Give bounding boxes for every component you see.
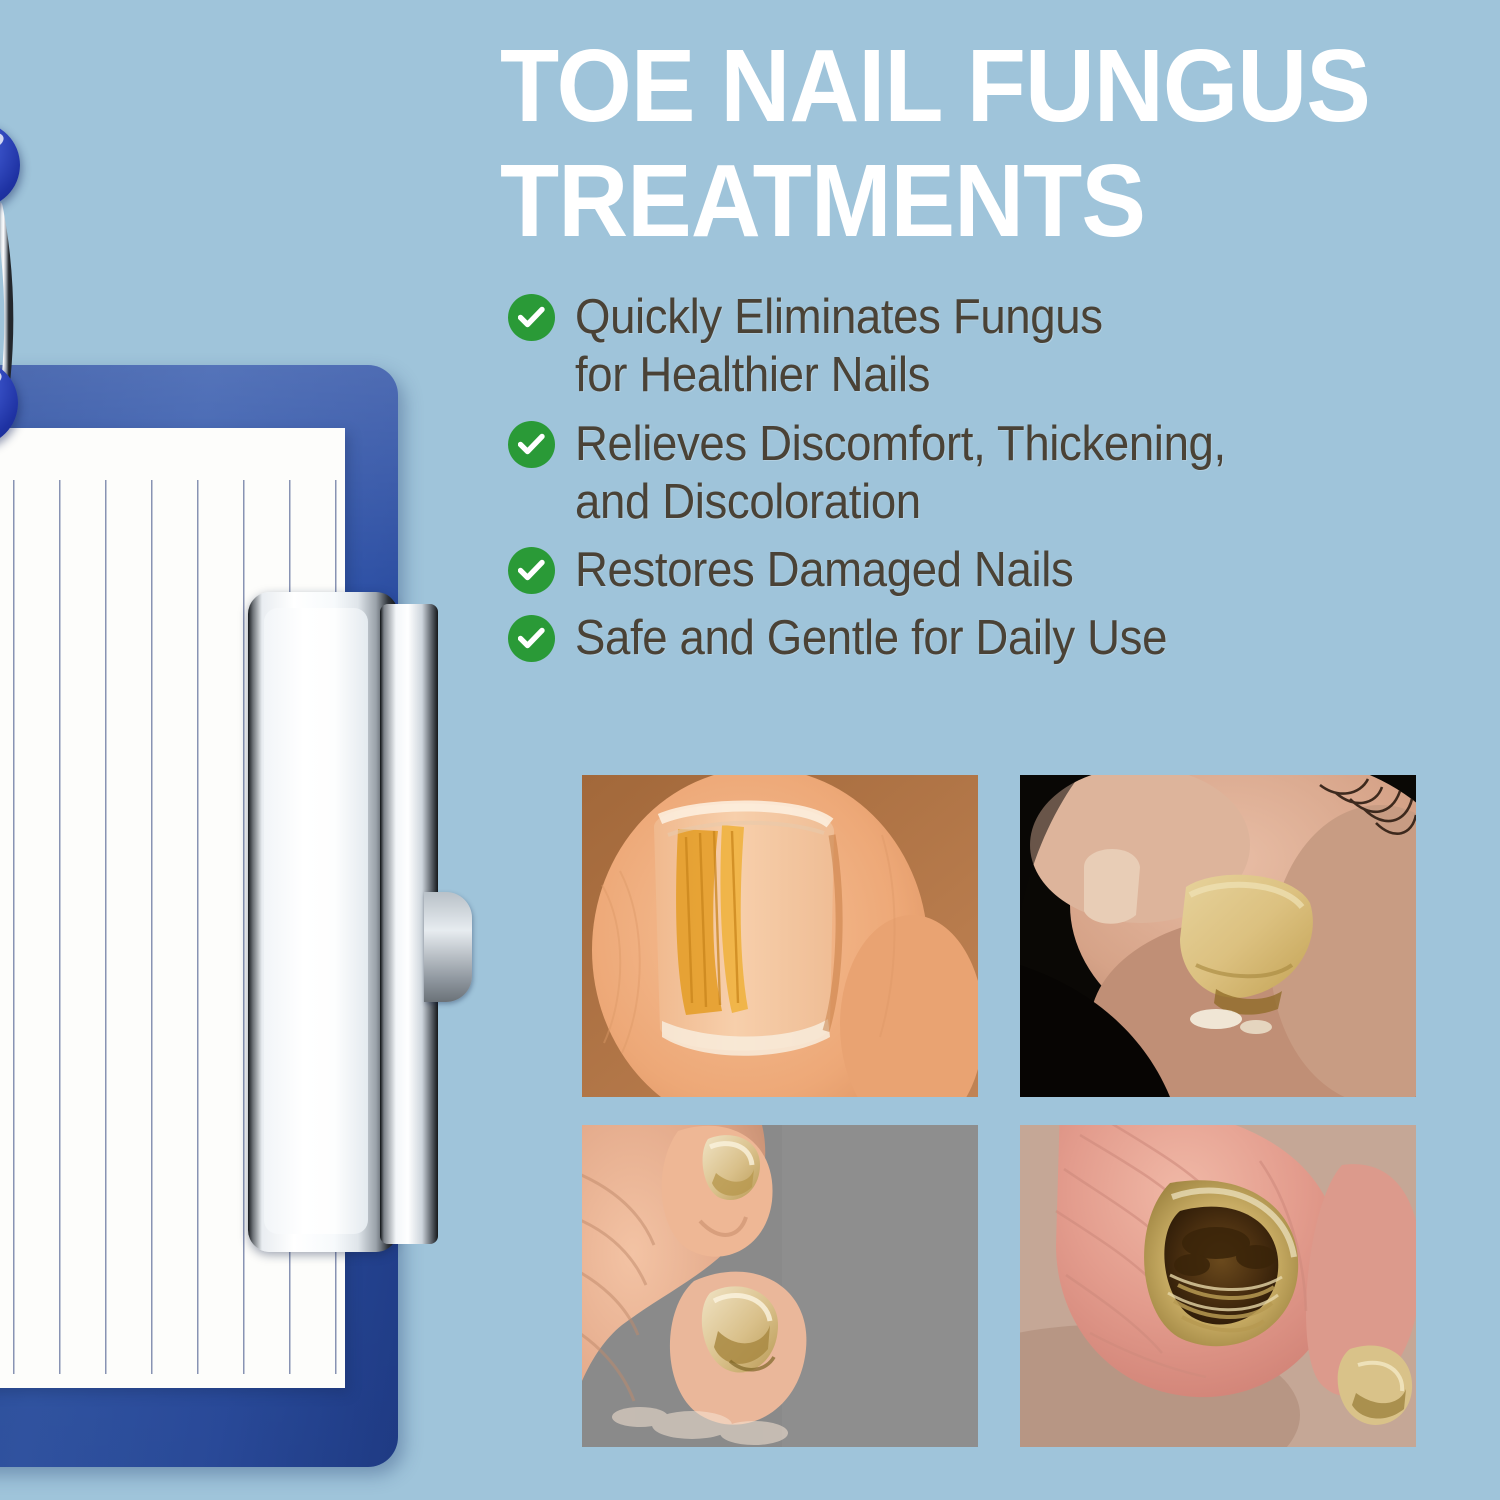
benefit-label: Quickly Eliminates Fungus for Healthier …	[575, 288, 1103, 405]
product-infographic: TOE NAIL FUNGUS TREATMENTS Quickly Elimi…	[0, 0, 1500, 1500]
benefit-label: Restores Damaged Nails	[575, 541, 1073, 599]
check-circle-icon	[508, 547, 555, 594]
headline-line-2: TREATMENTS	[500, 143, 1417, 258]
check-circle-icon	[508, 421, 555, 468]
benefit-item: Safe and Gentle for Daily Use	[508, 609, 1468, 667]
stethoscope	[0, 60, 330, 490]
condition-photo-top-right	[1020, 775, 1416, 1097]
condition-photo-grid	[582, 775, 1416, 1447]
benefit-label: Relieves Discomfort, Thickening, and Dis…	[575, 415, 1226, 532]
check-circle-icon	[508, 294, 555, 341]
headline-line-1: TOE NAIL FUNGUS	[500, 28, 1417, 143]
benefit-item: Quickly Eliminates Fungus for Healthier …	[508, 288, 1468, 405]
benefit-label: Safe and Gentle for Daily Use	[575, 609, 1167, 667]
condition-photo-bottom-right	[1020, 1125, 1416, 1447]
clip-body	[248, 592, 398, 1252]
clip-lever-tab	[424, 892, 472, 1002]
condition-photo-bottom-left	[582, 1125, 978, 1447]
condition-photo-top-left	[582, 775, 978, 1097]
chrome-clip	[248, 592, 438, 1252]
benefit-item: Restores Damaged Nails	[508, 541, 1468, 599]
check-circle-icon	[508, 615, 555, 662]
clip-inner-face	[264, 608, 368, 1234]
page-title: TOE NAIL FUNGUS TREATMENTS	[500, 28, 1417, 259]
benefit-item: Relieves Discomfort, Thickening, and Dis…	[508, 415, 1468, 532]
benefit-list: Quickly Eliminates Fungus for Healthier …	[508, 288, 1468, 678]
